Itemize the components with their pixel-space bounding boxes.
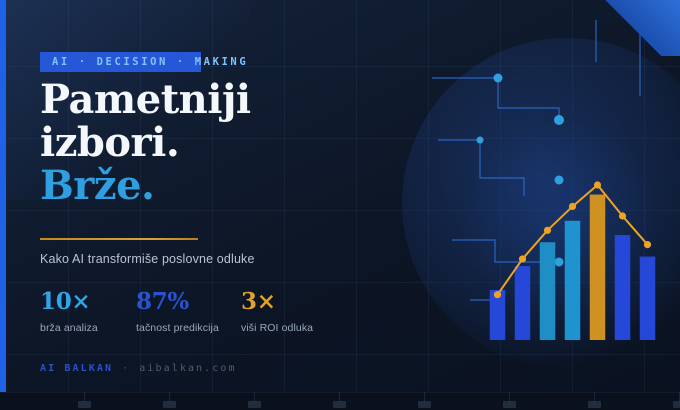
strip-divider [339, 392, 340, 402]
chart-data-point [619, 212, 626, 219]
chart-data-point [594, 181, 601, 188]
strip-tick [248, 401, 261, 408]
stat-item: 87% tačnost predikcija [136, 290, 241, 334]
stat-item: 3× viši ROI odluka [241, 290, 341, 334]
headline-line-3: Brže. [40, 164, 370, 207]
stat-label: tačnost predikcija [136, 322, 241, 334]
strip-tick [588, 401, 601, 408]
chart-bars-group [490, 195, 656, 340]
corner-accent-top-right [592, 0, 680, 56]
chart-data-point [519, 255, 526, 262]
subtitle: Kako AI transformiše poslovne odluke [40, 252, 255, 266]
strip-tick [418, 401, 431, 408]
headline-line-1: Pametniji [40, 78, 370, 121]
gold-divider [40, 238, 198, 240]
badge-label: AI · DECISION · MAKING [40, 52, 260, 72]
footer-brand: AI BALKAN [40, 363, 113, 374]
content-column: AI · DECISION · MAKING Pametniji izbori.… [40, 0, 380, 410]
strip-divider [594, 392, 595, 402]
strip-tick [673, 401, 680, 408]
page-title: Pametniji izbori. Brže. [40, 78, 370, 208]
chart-bar [590, 195, 606, 340]
footer-url[interactable]: aibalkan.com [139, 363, 236, 374]
category-badge: AI · DECISION · MAKING [40, 52, 260, 72]
strip-divider [169, 392, 170, 402]
strip-tick [163, 401, 176, 408]
strip-divider [509, 392, 510, 402]
strip-divider [254, 392, 255, 402]
stat-item: 10× brža analiza [40, 290, 136, 334]
stat-label: viši ROI odluka [241, 322, 341, 334]
left-edge-accent-bar [0, 0, 6, 410]
chart-bar [515, 266, 531, 340]
strip-tick [333, 401, 346, 408]
headline-line-2: izbori. [40, 121, 370, 164]
chart-data-point [494, 291, 501, 298]
stat-value: 87% [136, 290, 241, 313]
stat-label: brža analiza [40, 322, 136, 334]
chart-bar [540, 242, 556, 340]
stat-value: 10× [40, 290, 136, 313]
strip-tick [503, 401, 516, 408]
strip-divider [84, 392, 85, 402]
footer: AI BALKAN · aibalkan.com [40, 363, 237, 374]
chart-bar [565, 221, 581, 340]
strip-tick [78, 401, 91, 408]
poster-canvas: AI · DECISION · MAKING Pametniji izbori.… [0, 0, 680, 410]
stats-row: 10× brža analiza 87% tačnost predikcija … [40, 290, 341, 334]
footer-separator: · [122, 363, 130, 374]
chart-data-point [544, 227, 551, 234]
strip-divider [424, 392, 425, 402]
bottom-strip [0, 392, 680, 410]
chart-bar [615, 235, 631, 340]
bar-chart [485, 175, 660, 340]
chart-data-point [644, 241, 651, 248]
chart-bar [640, 257, 656, 340]
stat-value: 3× [241, 290, 341, 313]
chart-data-point [569, 203, 576, 210]
